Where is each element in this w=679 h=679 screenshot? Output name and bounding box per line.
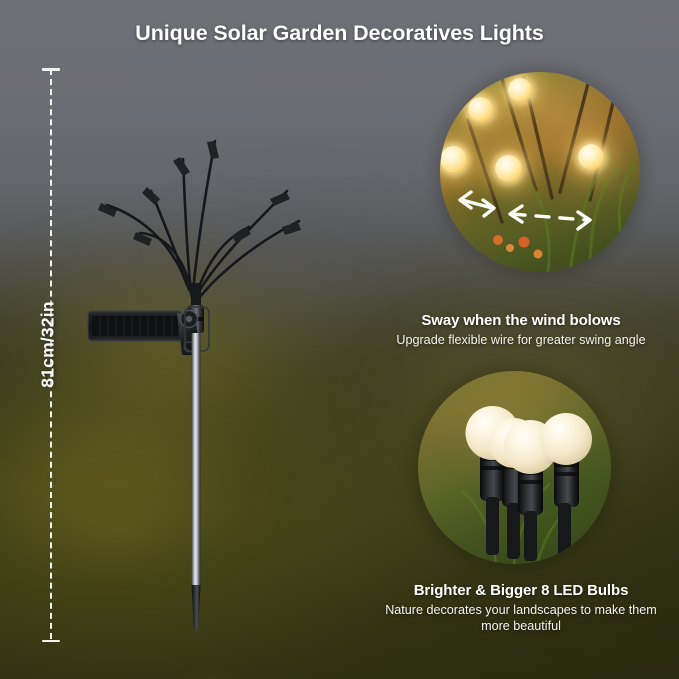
flower-cluster [493,235,543,259]
product-stake-tip [192,585,201,633]
sway-title: Sway when the wind bolows [372,312,670,329]
solar-panel-assembly [88,307,209,355]
product-illustration [55,55,355,650]
product-pole [192,333,201,591]
bulb-wires [107,141,299,298]
feature-caption-bulbs: Brighter & Bigger 8 LED Bulbs Nature dec… [372,582,670,634]
feature-photo-sway [440,72,640,272]
page-title: Unique Solar Garden Decoratives Lights [0,21,679,46]
sway-subtitle: Upgrade flexible wire for greater swing … [372,332,670,348]
sway-arrows [460,192,590,229]
bulbs-title: Brighter & Bigger 8 LED Bulbs [372,582,670,599]
product-feature-image: Unique Solar Garden Decoratives Lights 8… [0,0,679,679]
bulbs-subtitle: Nature decorates your landscapes to make… [372,602,670,634]
grass-stems [468,72,616,222]
feature-photo-bulbs [418,371,611,564]
feature-caption-sway: Sway when the wind bolows Upgrade flexib… [372,312,670,348]
